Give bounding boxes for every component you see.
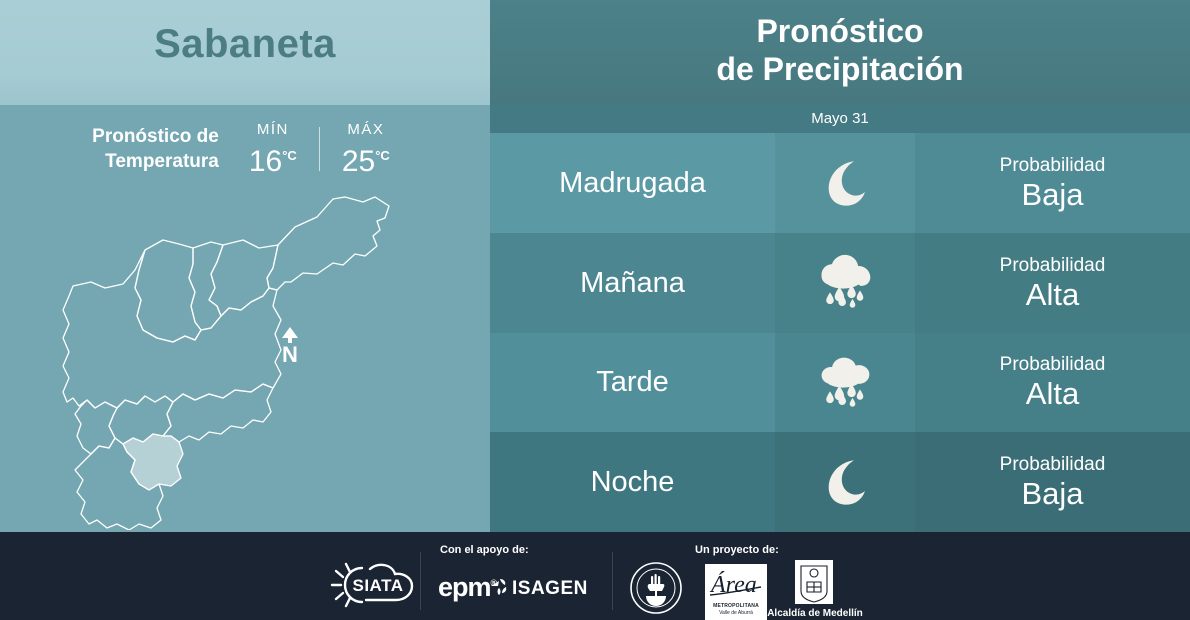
- forecast-probability-cell: Probabilidad Baja: [915, 432, 1190, 532]
- probability-label: Probabilidad: [1000, 154, 1106, 178]
- map-area-bello: [135, 240, 201, 342]
- page-title: Sabaneta: [0, 22, 490, 67]
- temperature-max-caption: MÁX: [334, 120, 398, 140]
- probability-value: Alta: [1026, 377, 1079, 411]
- compass-arrow-icon: [282, 327, 298, 338]
- forecast-icon-cell: [775, 233, 915, 333]
- forecast-probability-cell: Probabilidad Baja: [915, 133, 1190, 233]
- alcaldia-logo-text: Alcaldía de Medellín: [767, 608, 863, 619]
- forecast-period-cell: Madrugada: [490, 133, 775, 233]
- weather-forecast-card: Sabaneta Pronóstico de Temperatura MÍN 1…: [0, 0, 1190, 620]
- precipitation-title-line1: Pronóstico: [490, 12, 1190, 50]
- forecast-period-cell: Noche: [490, 432, 775, 532]
- rain-cloud-icon: [813, 352, 877, 412]
- map-area-barbosa: [267, 197, 389, 290]
- siata-logo: SIATA: [330, 560, 425, 615]
- medellin-seal-icon: [630, 562, 682, 614]
- forecast-date-band: Mayo 31: [490, 105, 1190, 133]
- temperature-min-caption: MÍN: [241, 120, 305, 140]
- forecast-icon-cell: [775, 133, 915, 233]
- probability-value: Baja: [1021, 178, 1083, 212]
- map-svg: [45, 170, 445, 530]
- forecast-period-label: Tarde: [596, 365, 669, 399]
- map-area-envigado: [163, 384, 273, 442]
- forecast-period-cell: Mañana: [490, 233, 775, 333]
- area-metropolitana-logo: Área METROPOLITANA Valle de Aburrá: [705, 564, 767, 620]
- probability-label: Probabilidad: [1000, 254, 1106, 278]
- footer-divider: [612, 552, 613, 610]
- moon-icon: [816, 154, 874, 212]
- municipality-map: [45, 170, 445, 530]
- support-caption: Con el apoyo de:: [440, 544, 529, 556]
- alcaldia-shield-svg: [795, 560, 833, 604]
- epm-logo: epm®: [438, 572, 496, 603]
- left-panel: Sabaneta Pronóstico de Temperatura MÍN 1…: [0, 0, 490, 532]
- area-logo-swash-icon: [709, 584, 763, 598]
- forecast-period-label: Mañana: [580, 266, 685, 300]
- epm-logo-text: epm: [438, 572, 491, 602]
- compass-north-icon: N: [275, 327, 305, 366]
- siata-logo-text: SIATA: [353, 576, 404, 595]
- right-panel: Pronóstico de Precipitación Mayo 31 Madr…: [490, 0, 1190, 532]
- forecast-period-label: Madrugada: [559, 166, 706, 200]
- forecast-period-cell: Tarde: [490, 333, 775, 433]
- temperature-label: Pronóstico de Temperatura: [92, 124, 219, 174]
- forecast-probability-cell: Probabilidad Alta: [915, 233, 1190, 333]
- probability-value: Baja: [1021, 477, 1083, 511]
- forecast-icon-cell: [775, 432, 915, 532]
- siata-logo-icon: SIATA: [330, 560, 425, 610]
- forecast-row: Noche Probabilidad Baja: [490, 432, 1190, 532]
- probability-label: Probabilidad: [1000, 353, 1106, 377]
- compass-label: N: [275, 344, 305, 366]
- temperature-max-unit: °C: [375, 148, 390, 163]
- forecast-date: Mayo 31: [490, 105, 1190, 133]
- rain-cloud-icon: [813, 253, 877, 313]
- temperature-divider: [319, 127, 320, 171]
- alcaldia-shield-icon: [795, 560, 833, 604]
- footer-logos: Con el apoyo de: Un proyecto de: SIATA: [320, 532, 920, 620]
- precipitation-title: Pronóstico de Precipitación: [490, 12, 1190, 88]
- temperature-min-unit: °C: [282, 148, 297, 163]
- isagen-logo-text: ISAGEN: [512, 578, 588, 600]
- project-caption: Un proyecto de:: [695, 544, 779, 556]
- forecast-row: Tarde: [490, 333, 1190, 433]
- forecast-period-label: Noche: [591, 465, 675, 499]
- forecast-probability-cell: Probabilidad Alta: [915, 333, 1190, 433]
- isagen-mark-icon: [490, 578, 510, 601]
- forecast-row: Madrugada Probabilidad Baja: [490, 133, 1190, 233]
- forecast-rows: Madrugada Probabilidad Baja Mañana: [490, 133, 1190, 532]
- precipitation-title-line2: de Precipitación: [490, 50, 1190, 88]
- isagen-leaf-icon: [490, 578, 510, 596]
- medellin-seal-logo: [630, 562, 682, 619]
- footer: Con el apoyo de: Un proyecto de: SIATA: [0, 532, 1190, 620]
- area-logo-sub2: Valle de Aburrá: [708, 610, 764, 616]
- probability-label: Probabilidad: [1000, 453, 1106, 477]
- footer-divider: [420, 552, 421, 610]
- map-area-sabaneta-highlighted: [123, 434, 183, 490]
- forecast-icon-cell: [775, 333, 915, 433]
- forecast-row: Mañana: [490, 233, 1190, 333]
- moon-icon: [816, 453, 874, 511]
- temperature-label-line1: Pronóstico de: [92, 124, 219, 149]
- map-area-medellin: [63, 250, 281, 408]
- area-logo-sub1: METROPOLITANA: [708, 603, 764, 609]
- map-area-girardota: [209, 240, 278, 316]
- probability-value: Alta: [1026, 278, 1079, 312]
